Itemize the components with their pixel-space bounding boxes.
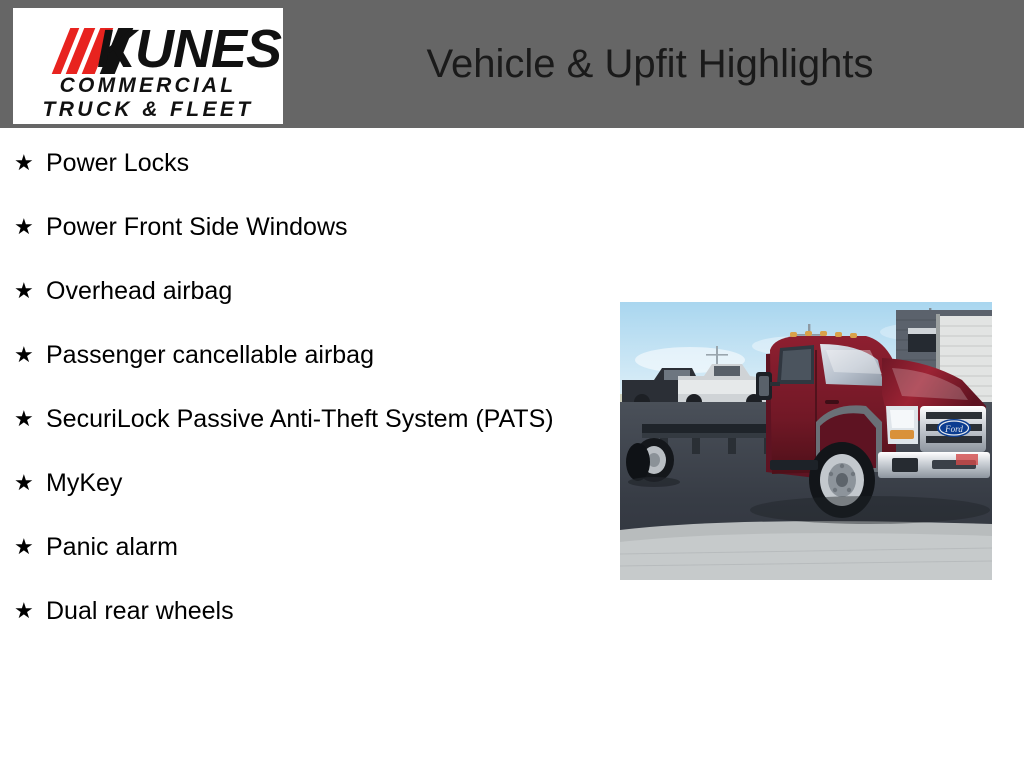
star-bullet-icon: ★ xyxy=(14,148,34,178)
star-bullet-icon: ★ xyxy=(14,404,34,434)
list-item-label: Power Locks xyxy=(46,148,604,179)
list-item: ★ Dual rear wheels xyxy=(14,596,604,627)
front-grille: Ford xyxy=(920,406,986,452)
list-item-label: SecuriLock Passive Anti-Theft System (PA… xyxy=(46,404,604,435)
page-title: Vehicle & Upfit Highlights xyxy=(300,38,1000,90)
star-bullet-icon: ★ xyxy=(14,212,34,242)
star-bullet-icon: ★ xyxy=(14,596,34,626)
star-bullet-icon: ★ xyxy=(14,340,34,370)
list-item: ★ SecuriLock Passive Anti-Theft System (… xyxy=(14,404,604,435)
list-item-label: Overhead airbag xyxy=(46,276,604,307)
star-bullet-icon: ★ xyxy=(14,532,34,562)
list-item: ★ Passenger cancellable airbag xyxy=(14,340,604,371)
list-item: ★ Power Front Side Windows xyxy=(14,212,604,243)
svg-text:Ford: Ford xyxy=(944,424,963,434)
star-bullet-icon: ★ xyxy=(14,468,34,498)
logo-commercial-text: COMMERCIAL xyxy=(13,74,283,98)
list-item: ★ Overhead airbag xyxy=(14,276,604,307)
truck-photo-illustration: Ford xyxy=(620,302,992,580)
list-item-label: MyKey xyxy=(46,468,604,499)
list-item-label: Dual rear wheels xyxy=(46,596,604,627)
logo-box: KUNES COMMERCIAL TRUCK & FLEET xyxy=(13,8,283,124)
list-item: ★ Panic alarm xyxy=(14,532,604,563)
logo-brand-text: KUNES xyxy=(97,20,281,78)
list-item: ★ MyKey xyxy=(14,468,604,499)
kunes-logo: KUNES COMMERCIAL TRUCK & FLEET xyxy=(13,8,283,124)
list-item-label: Passenger cancellable airbag xyxy=(46,340,604,371)
logo-truck-fleet-text: TRUCK & FLEET xyxy=(13,98,283,122)
truck-photo: Ford xyxy=(620,302,992,580)
list-item-label: Panic alarm xyxy=(46,532,604,563)
star-bullet-icon: ★ xyxy=(14,276,34,306)
list-item: ★ Power Locks xyxy=(14,148,604,179)
list-item-label: Power Front Side Windows xyxy=(46,212,604,243)
highlights-list: ★ Power Locks ★ Power Front Side Windows… xyxy=(14,148,604,660)
